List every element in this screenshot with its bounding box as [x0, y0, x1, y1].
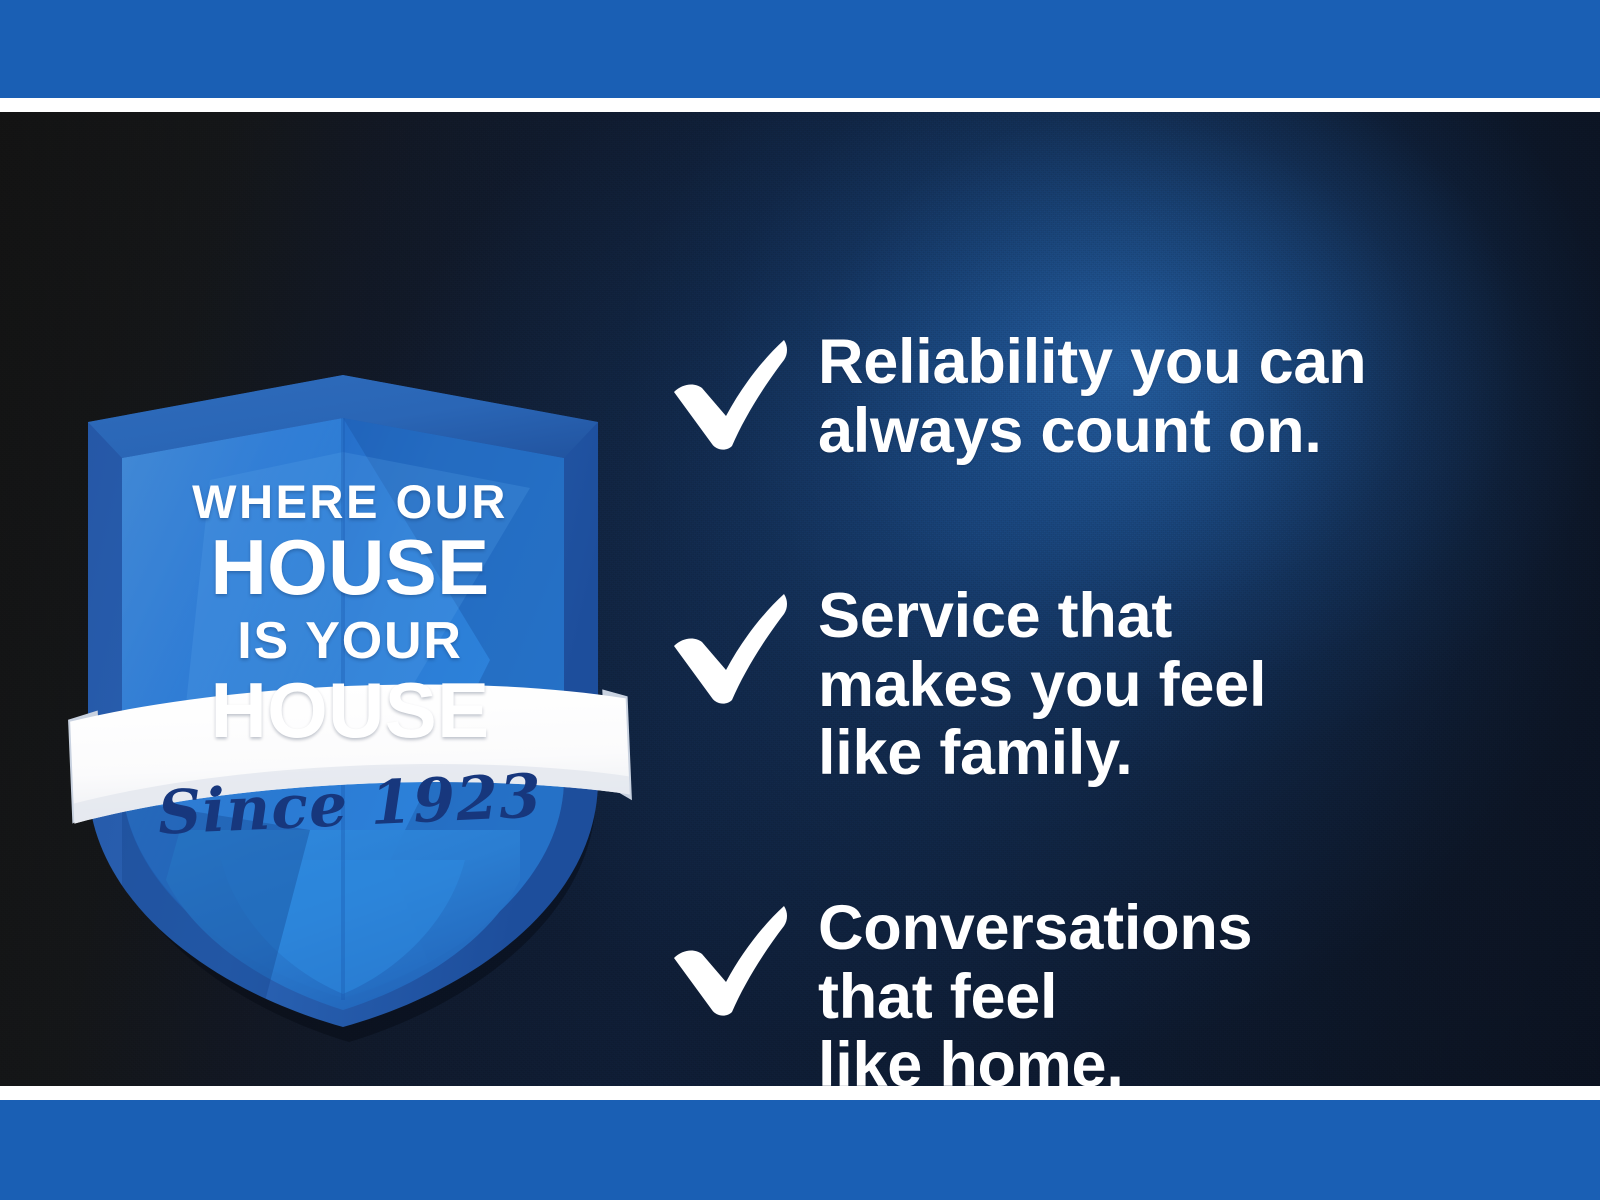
list-item-label: Service that makes you feel like family.: [818, 582, 1266, 788]
badge-line-2: House: [60, 528, 640, 606]
top-divider-rule: [0, 98, 1600, 112]
check-icon: [668, 328, 818, 452]
main-panel: Where our House is your House Since 1923…: [0, 112, 1600, 1086]
bottom-brand-bar: [0, 1100, 1600, 1200]
list-item: Reliability you can always count on.: [668, 328, 1366, 465]
list-item-label: Reliability you can always count on.: [818, 328, 1366, 465]
bottom-divider-rule: [0, 1086, 1600, 1100]
top-brand-bar: [0, 0, 1600, 98]
check-icon: [668, 894, 818, 1018]
list-item: Conversations that feel like home.: [668, 894, 1252, 1086]
badge-line-1: Where our: [60, 478, 640, 525]
list-item-label: Conversations that feel like home.: [818, 894, 1252, 1086]
shield-badge: Where our House is your House Since 1923: [60, 360, 640, 1050]
check-icon: [668, 582, 818, 706]
badge-line-4: House: [60, 671, 640, 749]
promo-graphic: Where our House is your House Since 1923…: [0, 0, 1600, 1200]
list-item: Service that makes you feel like family.: [668, 582, 1266, 788]
badge-line-3: is your: [60, 615, 640, 667]
